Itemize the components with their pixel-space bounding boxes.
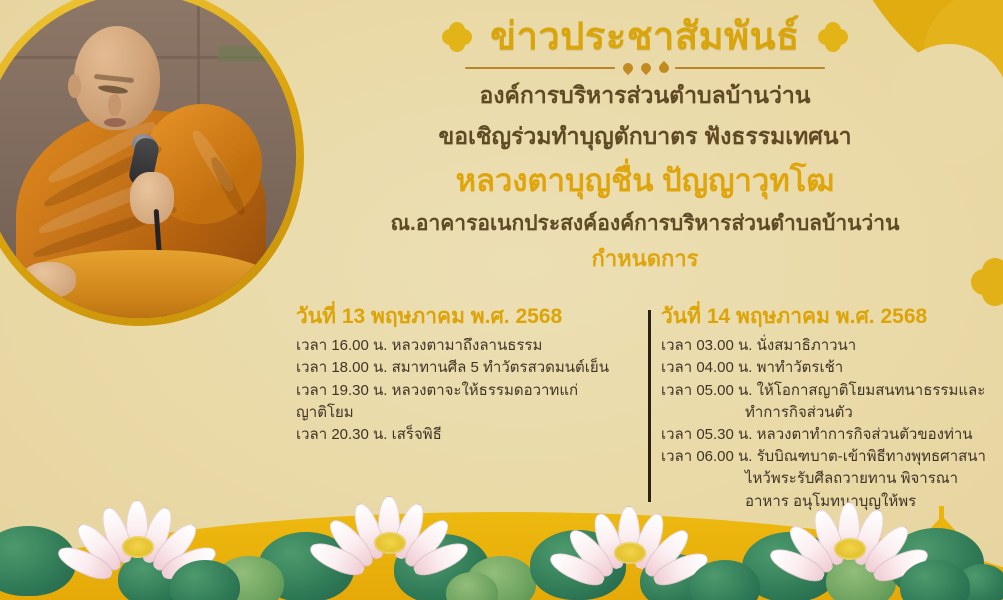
venue-text: ณ.อาคารอเนกประสงค์องค์การบริหารส่วนตำบลบ… [300,211,990,237]
monk-name: หลวงตาบุญชื่น ปัญญาวุทโฒ [300,162,990,199]
edge-floral-icon [971,258,1003,306]
schedule-item: เวลา 18.00 น. สมาทานศีล 5 ทำวัตรสวดมนต์เ… [296,357,625,379]
wall-accent [218,46,296,62]
monk-nose [108,94,121,116]
schedule-item-main: เวลา 05.00 น. ให้โอกาสญาติโยมสนทนาธรรมแล… [661,382,985,399]
monk-ear [68,74,81,98]
invitation-text: ขอเชิญร่วมทำบุญตักบาตร ฟังธรรมเทศนา [300,123,990,151]
schedule-item: เวลา 16.00 น. หลวงตามาถึงลานธรรม [296,335,625,357]
schedule-item-main: เวลา 06.00 น. รับบิณฑบาต-เข้าพิธีทางพุทธ… [661,448,986,465]
schedule-item: เวลา 03.00 น. นั่งสมาธิภาวนา [661,335,986,357]
schedule-item: เวลา 04.00 น. พาทำวัตรเช้า [661,357,986,379]
schedule-item: เวลา 05.30 น. หลวงตาทำการกิจส่วนตัวของท่… [661,424,986,446]
schedule-item: เวลา 20.30 น. เสร็จพิธี [296,424,625,446]
monk-hand [130,172,174,224]
organization-name: องค์การบริหารส่วนตำบลบ้านว่าน [300,82,990,110]
title-row: ข่าวประชาสัมพันธ์ [300,16,990,59]
day1-heading: วันที่ 13 พฤษภาคม พ.ศ. 2568 [296,304,625,329]
schedule-item-cont: ทำการกิจส่วนตัว [661,402,986,424]
monk-mouth [104,118,126,127]
title-divider-ornament [465,61,825,75]
quatrefoil-icon [442,22,472,52]
monk-hand [22,262,76,298]
schedule-item: เวลา 19.30 น. หลวงตาจะให้ธรรมดอวาทแก่ญาต… [296,380,625,424]
lotus-flower [790,504,910,588]
quatrefoil-icon [818,22,848,52]
lotus-footer-band [0,482,1003,600]
portrait-photo [0,0,296,318]
page-title: ข่าวประชาสัมพันธ์ [490,16,800,59]
lotus-flower [330,498,450,582]
agenda-label: กำหนดการ [300,246,990,272]
monk-portrait [0,0,304,326]
day2-heading: วันที่ 14 พฤษภาคม พ.ศ. 2568 [661,304,986,329]
lotus-flower [570,508,690,592]
poster-header: ข่าวประชาสัมพันธ์ องค์การบริหารส่วนตำบลบ… [300,16,990,273]
schedule-item: เวลา 05.00 น. ให้โอกาสญาติโยมสนทนาธรรมแล… [661,380,986,424]
announcement-poster: ข่าวประชาสัมพันธ์ องค์การบริหารส่วนตำบลบ… [0,0,1003,600]
